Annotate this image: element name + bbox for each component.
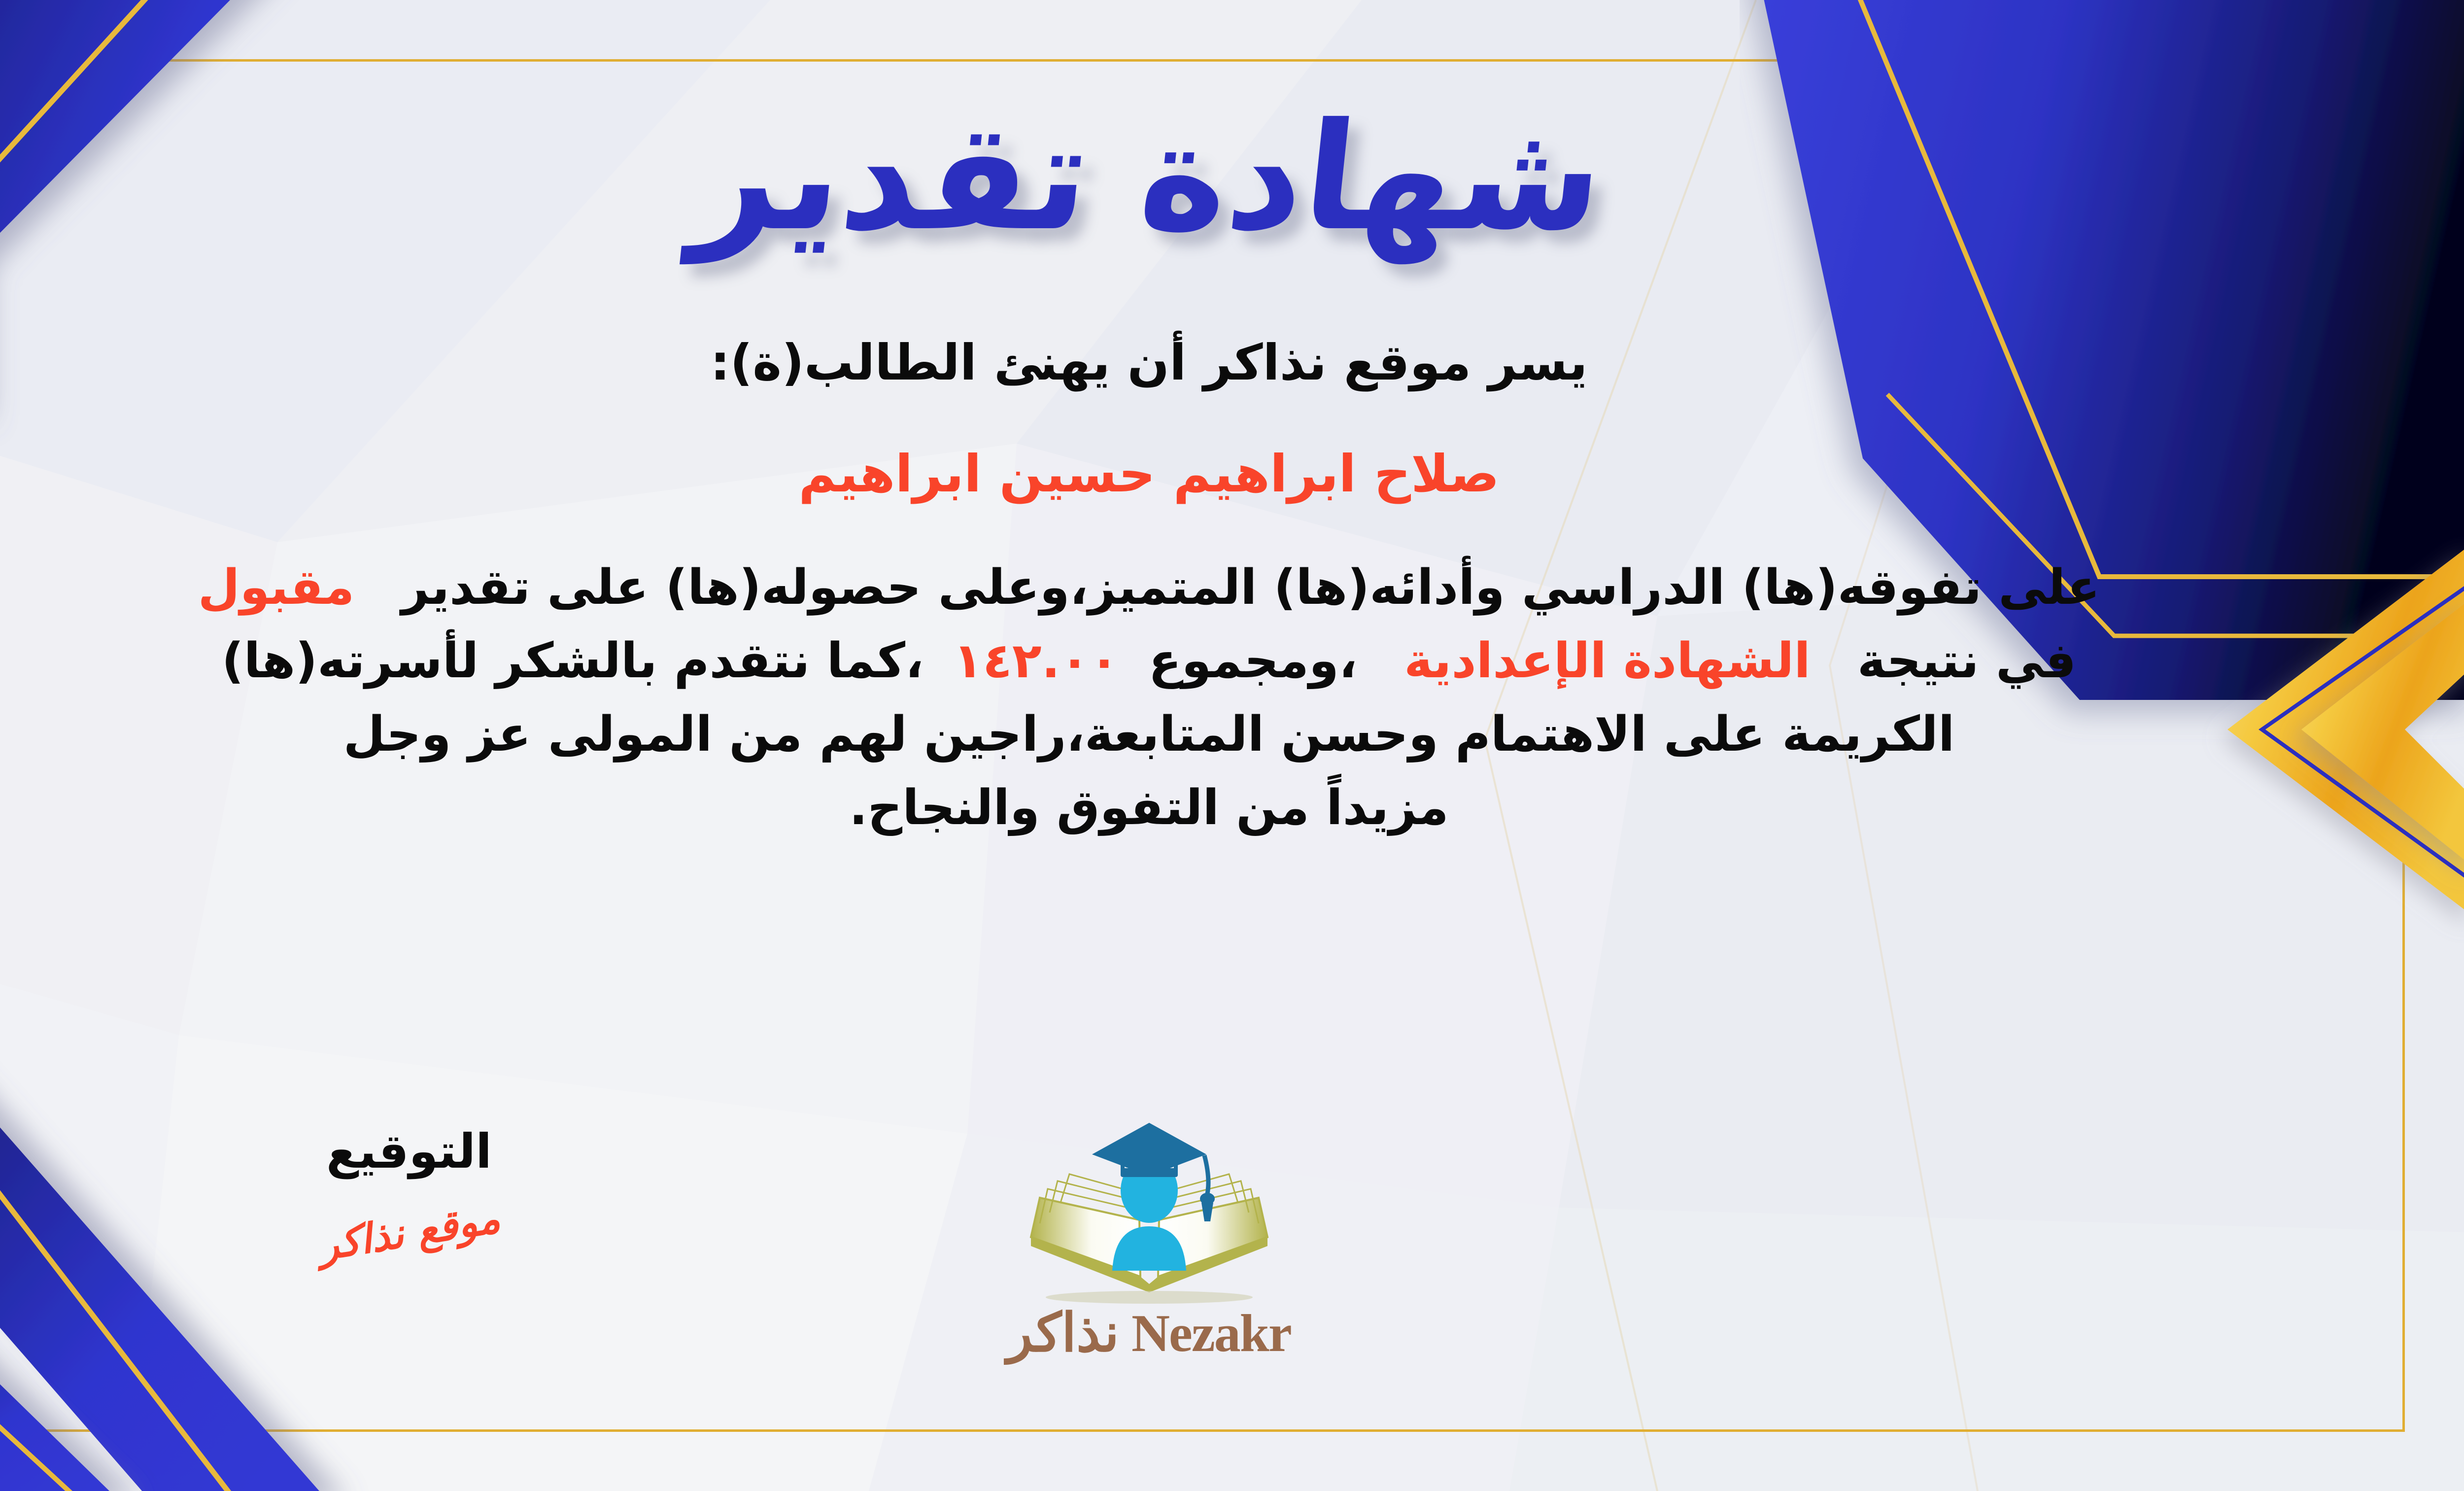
grade-value: مقبول bbox=[198, 551, 355, 624]
certificate-footer: التوقيع موقع نذاكر bbox=[0, 1119, 2464, 1424]
signature-script: موقع نذاكر bbox=[315, 1195, 503, 1270]
page-title: شهادة تقدير bbox=[687, 104, 1611, 251]
signature-block: التوقيع موقع نذاكر bbox=[187, 1124, 631, 1256]
brand-wordmark: Nezakr نذاكر bbox=[947, 1302, 1351, 1364]
certificate-body: يسر موقع نذاكر أن يهنئ الطالب(ة): صلاح ا… bbox=[127, 325, 2172, 845]
exam-name: الشهادة الإعدادية bbox=[1404, 624, 1811, 698]
total-score-value: ١٤٢.٠٠ bbox=[953, 624, 1119, 698]
citation-paragraph: على تفوقه(ها) الدراسي وأدائه(ها) المتميز… bbox=[127, 551, 2172, 845]
citation-line-5: الكريمة على الاهتمام وحسن المتابعة،راجين… bbox=[127, 698, 2172, 771]
certificate-canvas: شهادة تقدير يسر موقع نذاكر أن يهنئ الطال… bbox=[0, 0, 2464, 1491]
total-prefix-text: ،ومجموع bbox=[1149, 624, 1358, 698]
citation-line-3-text: على تفوقه(ها) الدراسي وأدائه(ها) المتميز… bbox=[401, 551, 2100, 624]
graduate-book-logo-icon bbox=[1011, 1114, 1287, 1311]
exam-prefix-text: في نتيجة bbox=[1857, 624, 2076, 698]
thanks-text: ،كما نتقدم بالشكر لأسرته(ها) bbox=[222, 624, 924, 698]
intro-line: يسر موقع نذاكر أن يهنئ الطالب(ة): bbox=[127, 325, 2172, 400]
student-name: صلاح ابراهيم حسين ابراهيم bbox=[127, 435, 2172, 513]
citation-line-3: على تفوقه(ها) الدراسي وأدائه(ها) المتميز… bbox=[127, 551, 2172, 624]
citation-line-4: في نتيجة الشهادة الإعدادية ،ومجموع ١٤٢.٠… bbox=[127, 624, 2172, 698]
brand-logo-block: Nezakr نذاكر bbox=[947, 1114, 1351, 1364]
signature-label: التوقيع bbox=[187, 1124, 631, 1179]
citation-line-6: مزيداً من التفوق والنجاح. bbox=[127, 771, 2172, 845]
certificate-title-wrap: شهادة تقدير bbox=[0, 74, 2464, 281]
